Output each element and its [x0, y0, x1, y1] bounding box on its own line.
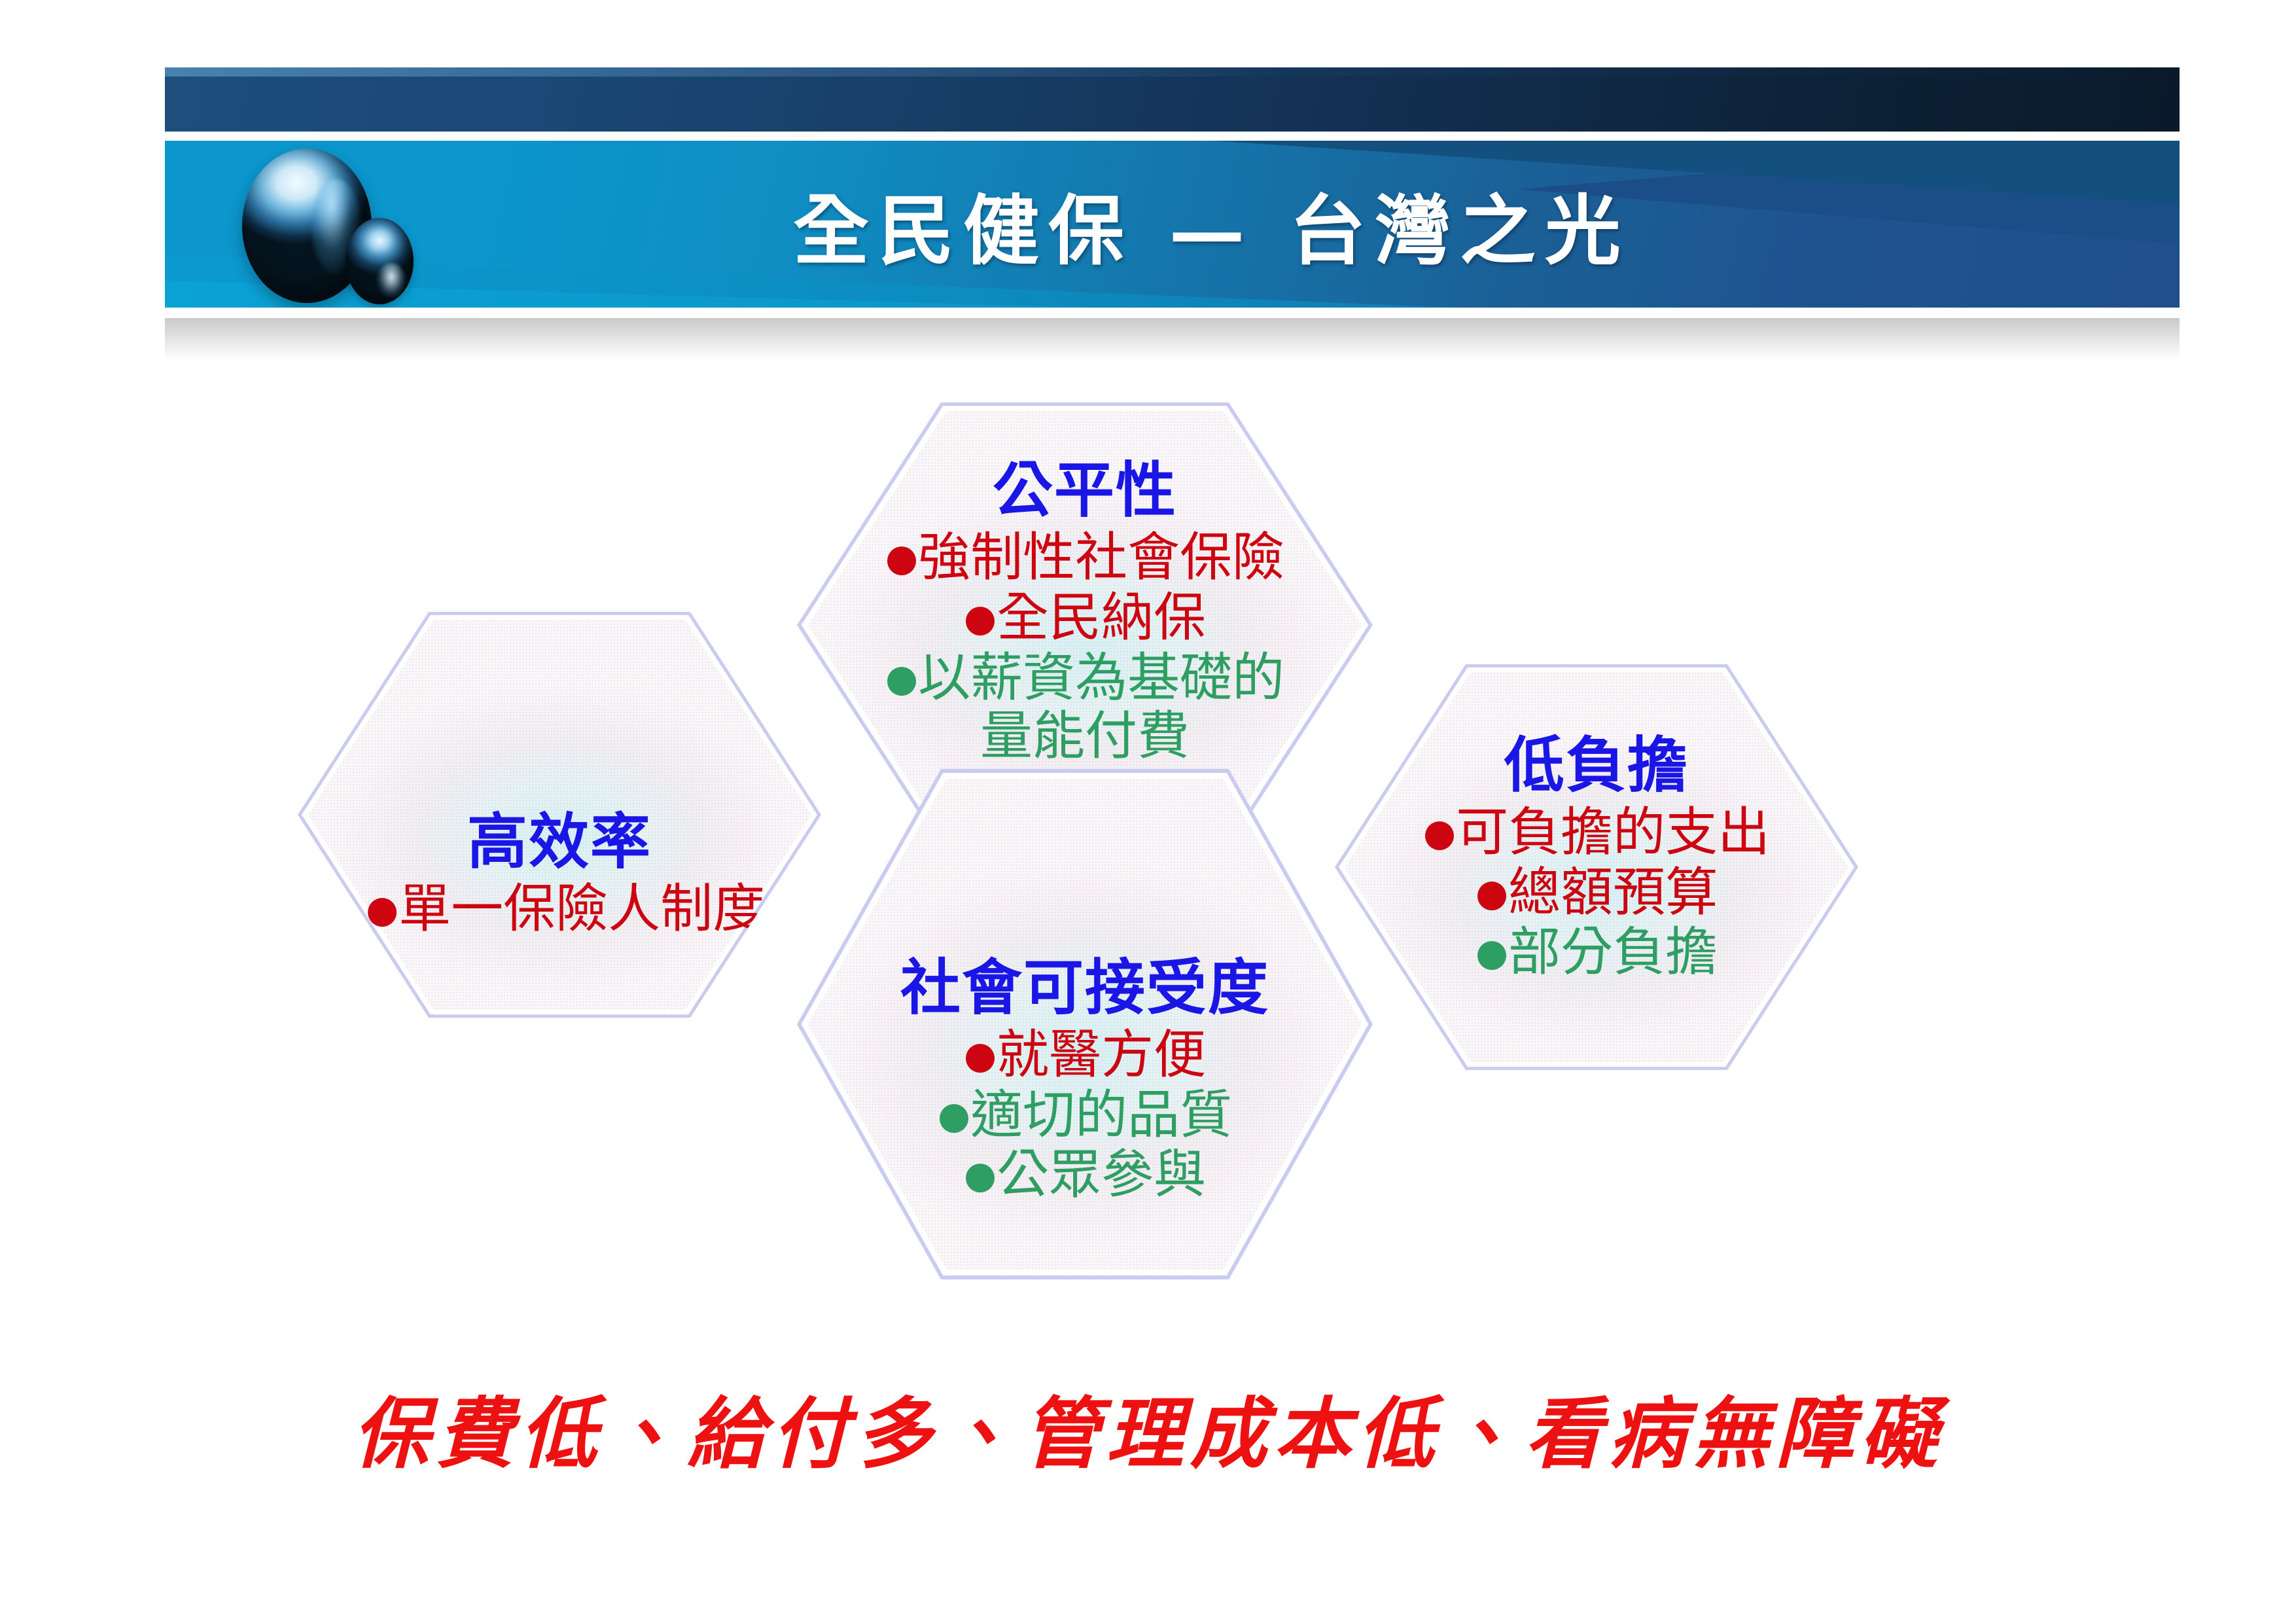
hexagon-title-low-burden: 低負擔	[1403, 732, 1790, 799]
hexagon-title-equity: 公平性	[872, 457, 1298, 524]
bullet-dot-icon: ●	[964, 596, 997, 640]
list-item: ●總額預算	[1403, 863, 1790, 922]
title-banner: 全民健保 — 台灣之光	[165, 141, 2180, 308]
banner-reflection	[165, 318, 2180, 361]
bullet-label: 可負擔的支出	[1456, 802, 1770, 863]
hexagon-bullet-list: ●單一保險人制度	[366, 880, 753, 938]
bullet-label: 公眾參與	[997, 1144, 1206, 1205]
list-item: ●強制性社會保險	[872, 528, 1298, 587]
bullet-dot-icon: ●	[885, 656, 918, 700]
list-item: ●全民納保	[872, 588, 1298, 647]
bullet-label: 全民納保	[997, 587, 1206, 648]
hexagon-bullet-list: ●可負擔的支出 ●總額預算 ●部分負擔	[1403, 803, 1790, 982]
bullet-dot-icon: ●	[885, 536, 918, 580]
hexagon-social-acceptability[interactable]: 社會可接受度 ●就醫方便 ●適切的品質 ●公眾參與	[797, 769, 1373, 1279]
list-item: ●就醫方便	[872, 1026, 1298, 1084]
bullet-dot-icon: ●	[1475, 871, 1508, 915]
bullet-label: 強制性社會保險	[918, 527, 1284, 588]
bullet-dot-icon: ●	[1475, 931, 1508, 974]
slide-header: 全民健保 — 台灣之光	[0, 0, 2296, 380]
list-item: ●以薪資為基礎的量能付費	[872, 649, 1298, 766]
bullet-label: 單一保險人制度	[398, 878, 765, 939]
list-item: ●適切的品質	[872, 1086, 1298, 1145]
hexagon-content: 高效率 ●單一保險人制度	[366, 690, 753, 940]
bullet-label: 以薪資為基礎的量能付費	[918, 647, 1284, 767]
list-item: ●部分負擔	[1403, 923, 1790, 982]
hexagon-content: 公平性 ●強制性社會保險 ●全民納保 ●以薪資為基礎的量能付費	[872, 457, 1298, 793]
bullet-dot-icon: ●	[964, 1033, 997, 1077]
hexagon-low-burden[interactable]: 低負擔 ●可負擔的支出 ●總額預算 ●部分負擔	[1335, 664, 1858, 1070]
hexagon-title-high-efficiency: 高效率	[366, 808, 753, 876]
hexagon-bullet-list: ●就醫方便 ●適切的品質 ●公眾參與	[872, 1026, 1298, 1204]
header-top-accent-bar	[165, 67, 2180, 132]
bullet-dot-icon: ●	[964, 1153, 997, 1197]
bullet-label: 部分負擔	[1508, 921, 1718, 982]
bullet-label: 總額預算	[1508, 862, 1718, 923]
slide-canvas: 全民健保 — 台灣之光 高效率 ●單一保險人制度 低負擔	[0, 0, 2296, 1623]
hexagon-title-social-acceptability: 社會可接受度	[872, 954, 1298, 1022]
list-item: ●可負擔的支出	[1403, 803, 1790, 862]
header-top-accent-sheen	[165, 67, 2180, 77]
footer-caption: 保費低、給付多、管理成本低、看病無障礙	[0, 1371, 2296, 1483]
list-item: ●單一保險人制度	[366, 880, 753, 938]
hexagon-content: 社會可接受度 ●就醫方便 ●適切的品質 ●公眾參與	[872, 843, 1298, 1205]
bullet-label: 就醫方便	[997, 1024, 1206, 1085]
hexagon-diagram: 高效率 ●單一保險人制度 低負擔 ●可負擔的支出 ●總額預算 ●部分負擔	[0, 366, 2296, 1329]
hexagon-bullet-list: ●強制性社會保險 ●全民納保 ●以薪資為基礎的量能付費	[872, 528, 1298, 765]
bullet-dot-icon: ●	[938, 1094, 970, 1137]
bullet-dot-icon: ●	[1423, 811, 1456, 855]
hexagon-high-efficiency[interactable]: 高效率 ●單一保險人制度	[298, 612, 821, 1018]
bullet-label: 適切的品質	[970, 1084, 1232, 1145]
page-title: 全民健保 — 台灣之光	[165, 141, 2180, 308]
bullet-dot-icon: ●	[366, 887, 398, 931]
list-item: ●公眾參與	[872, 1145, 1298, 1204]
hexagon-content: 低負擔 ●可負擔的支出 ●總額預算 ●部分負擔	[1403, 732, 1790, 1003]
